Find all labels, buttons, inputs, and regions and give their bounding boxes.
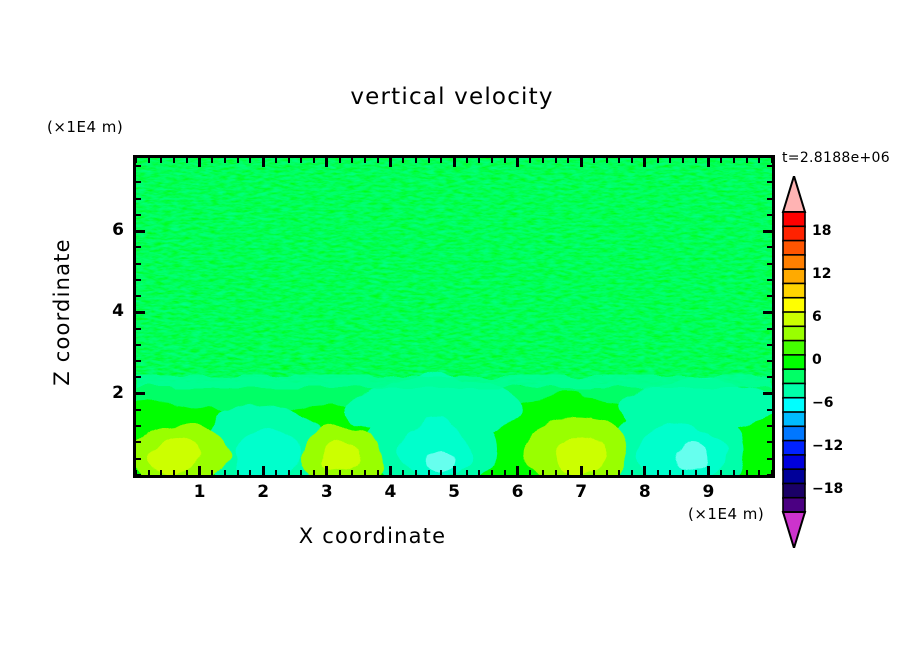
- z-minor-tick: [136, 246, 141, 248]
- x-minor-tick-top: [695, 158, 697, 163]
- x-minor-tick: [733, 470, 735, 475]
- x-minor-tick-top: [529, 158, 531, 163]
- x-minor-tick-top: [746, 158, 748, 163]
- x-major-tick: [707, 466, 710, 475]
- x-minor-tick: [402, 470, 404, 475]
- z-minor-tick: [136, 263, 141, 265]
- z-minor-tick: [136, 279, 141, 281]
- x-tick-label: 1: [180, 482, 220, 502]
- z-minor-tick-right: [767, 295, 772, 297]
- z-minor-tick-right: [767, 246, 772, 248]
- z-axis-unit-label: (×1E4 m): [47, 118, 123, 136]
- z-minor-tick: [136, 458, 141, 460]
- x-minor-tick: [669, 470, 671, 475]
- x-minor-tick: [173, 470, 175, 475]
- x-minor-tick-top: [249, 158, 251, 163]
- x-tick-label: 4: [370, 482, 410, 502]
- z-tick-label: 6: [98, 220, 124, 240]
- x-major-tick: [325, 466, 328, 475]
- colorbar-band: [783, 312, 805, 327]
- x-major-tick-top: [580, 158, 583, 167]
- colorbar-band: [783, 483, 805, 498]
- x-minor-tick-top: [771, 158, 773, 163]
- x-minor-tick-top: [300, 158, 302, 163]
- z-minor-tick-right: [767, 360, 772, 362]
- x-minor-tick-top: [606, 158, 608, 163]
- z-minor-tick: [136, 165, 141, 167]
- z-major-tick: [136, 230, 145, 233]
- z-tick-label: 2: [98, 383, 124, 403]
- x-minor-tick-top: [364, 158, 366, 163]
- chart-title: vertical velocity: [0, 84, 904, 110]
- z-minor-tick-right: [767, 376, 772, 378]
- x-minor-tick-top: [377, 158, 379, 163]
- z-minor-tick: [136, 328, 141, 330]
- x-major-tick-top: [262, 158, 265, 167]
- x-minor-tick-top: [237, 158, 239, 163]
- x-minor-tick-top: [555, 158, 557, 163]
- x-minor-tick-top: [173, 158, 175, 163]
- colorbar-tick-label: 18: [812, 223, 831, 239]
- x-minor-tick: [529, 470, 531, 475]
- contour-field: [136, 158, 772, 475]
- z-axis-title: Z coordinate: [50, 212, 74, 412]
- colorbar-band: [783, 226, 805, 241]
- x-major-tick: [262, 466, 265, 475]
- x-tick-label: 9: [688, 482, 728, 502]
- z-minor-tick: [136, 360, 141, 362]
- colorbar-tick-label: 0: [812, 352, 822, 368]
- x-minor-tick-top: [275, 158, 277, 163]
- z-minor-tick: [136, 344, 141, 346]
- x-minor-tick-top: [733, 158, 735, 163]
- colorbar-band: [783, 369, 805, 384]
- z-minor-tick-right: [767, 474, 772, 476]
- colorbar-band: [783, 326, 805, 341]
- x-minor-tick-top: [542, 158, 544, 163]
- x-major-tick: [516, 466, 519, 475]
- colorbar-band: [783, 426, 805, 441]
- colorbar-band: [783, 498, 805, 513]
- x-minor-tick: [695, 470, 697, 475]
- x-minor-tick-top: [313, 158, 315, 163]
- colorbar-over-arrow: [783, 176, 805, 212]
- x-minor-tick-top: [669, 158, 671, 163]
- z-minor-tick: [136, 181, 141, 183]
- x-minor-tick-top: [288, 158, 290, 163]
- x-minor-tick-top: [504, 158, 506, 163]
- colorbar-band: [783, 283, 805, 298]
- x-minor-tick-top: [466, 158, 468, 163]
- x-axis-unit-label: (×1E4 m): [688, 505, 764, 523]
- x-major-tick-top: [643, 158, 646, 167]
- z-minor-tick-right: [767, 181, 772, 183]
- time-annotation: t=2.8188e+06: [782, 150, 890, 166]
- x-minor-tick-top: [428, 158, 430, 163]
- x-minor-tick: [618, 470, 620, 475]
- z-minor-tick: [136, 441, 141, 443]
- contour-plot-area: [133, 155, 775, 478]
- z-major-tick-right: [763, 392, 772, 395]
- x-minor-tick-top: [402, 158, 404, 163]
- z-minor-tick-right: [767, 328, 772, 330]
- x-minor-tick-top: [339, 158, 341, 163]
- x-minor-tick: [491, 470, 493, 475]
- x-minor-tick: [657, 470, 659, 475]
- x-major-tick: [453, 466, 456, 475]
- x-tick-label: 7: [561, 482, 601, 502]
- colorbar-tick-label: −12: [812, 438, 843, 454]
- z-minor-tick-right: [767, 344, 772, 346]
- x-minor-tick: [249, 470, 251, 475]
- x-minor-tick-top: [657, 158, 659, 163]
- x-major-tick: [643, 466, 646, 475]
- x-minor-tick: [758, 470, 760, 475]
- x-major-tick-top: [389, 158, 392, 167]
- colorbar-band: [783, 383, 805, 398]
- x-minor-tick: [504, 470, 506, 475]
- x-tick-label: 3: [307, 482, 347, 502]
- x-minor-tick: [440, 470, 442, 475]
- x-minor-tick-top: [593, 158, 595, 163]
- z-minor-tick: [136, 425, 141, 427]
- z-minor-tick: [136, 409, 141, 411]
- x-minor-tick-top: [211, 158, 213, 163]
- x-minor-tick: [300, 470, 302, 475]
- x-minor-tick: [593, 470, 595, 475]
- x-minor-tick: [364, 470, 366, 475]
- x-minor-tick: [377, 470, 379, 475]
- x-major-tick-top: [453, 158, 456, 167]
- x-minor-tick-top: [135, 158, 137, 163]
- z-major-tick: [136, 311, 145, 314]
- x-minor-tick: [428, 470, 430, 475]
- colorbar-band: [783, 355, 805, 370]
- x-minor-tick-top: [478, 158, 480, 163]
- x-minor-tick: [542, 470, 544, 475]
- x-axis-title: X coordinate: [0, 524, 745, 548]
- colorbar-band: [783, 255, 805, 270]
- colorbar-band: [783, 441, 805, 456]
- x-minor-tick-top: [491, 158, 493, 163]
- z-minor-tick-right: [767, 441, 772, 443]
- x-minor-tick-top: [720, 158, 722, 163]
- colorbar-band: [783, 241, 805, 256]
- x-major-tick-top: [516, 158, 519, 167]
- x-minor-tick: [275, 470, 277, 475]
- x-minor-tick: [478, 470, 480, 475]
- x-minor-tick-top: [224, 158, 226, 163]
- x-minor-tick: [555, 470, 557, 475]
- x-minor-tick: [148, 470, 150, 475]
- colorbar-tick-label: 12: [812, 266, 831, 282]
- z-minor-tick-right: [767, 425, 772, 427]
- x-minor-tick: [631, 470, 633, 475]
- x-minor-tick: [682, 470, 684, 475]
- x-minor-tick: [186, 470, 188, 475]
- x-major-tick-top: [325, 158, 328, 167]
- x-minor-tick: [211, 470, 213, 475]
- x-minor-tick: [351, 470, 353, 475]
- x-minor-tick-top: [618, 158, 620, 163]
- z-major-tick-right: [763, 230, 772, 233]
- colorbar-band: [783, 269, 805, 284]
- z-minor-tick-right: [767, 263, 772, 265]
- x-minor-tick-top: [682, 158, 684, 163]
- x-minor-tick: [466, 470, 468, 475]
- x-tick-label: 8: [625, 482, 665, 502]
- x-minor-tick-top: [567, 158, 569, 163]
- z-minor-tick: [136, 214, 141, 216]
- z-minor-tick-right: [767, 214, 772, 216]
- x-tick-label: 6: [498, 482, 538, 502]
- x-minor-tick: [288, 470, 290, 475]
- colorbar-band: [783, 298, 805, 313]
- x-minor-tick: [237, 470, 239, 475]
- z-major-tick: [136, 392, 145, 395]
- x-minor-tick: [415, 470, 417, 475]
- z-minor-tick-right: [767, 165, 772, 167]
- colorbar-band: [783, 412, 805, 427]
- x-major-tick: [580, 466, 583, 475]
- x-minor-tick: [567, 470, 569, 475]
- x-major-tick-top: [198, 158, 201, 167]
- colorbar-band: [783, 455, 805, 470]
- z-minor-tick: [136, 295, 141, 297]
- x-minor-tick-top: [148, 158, 150, 163]
- z-minor-tick: [136, 474, 141, 476]
- z-minor-tick: [136, 376, 141, 378]
- x-minor-tick: [606, 470, 608, 475]
- z-minor-tick-right: [767, 409, 772, 411]
- z-minor-tick: [136, 198, 141, 200]
- z-major-tick-right: [763, 311, 772, 314]
- x-minor-tick: [160, 470, 162, 475]
- z-minor-tick-right: [767, 198, 772, 200]
- x-major-tick: [389, 466, 392, 475]
- x-tick-label: 2: [243, 482, 283, 502]
- x-minor-tick: [313, 470, 315, 475]
- colorbar-under-arrow: [783, 512, 805, 548]
- colorbar-tick-label: −18: [812, 481, 843, 497]
- x-minor-tick: [720, 470, 722, 475]
- x-minor-tick-top: [440, 158, 442, 163]
- z-tick-label: 4: [98, 301, 124, 321]
- colorbar-band: [783, 398, 805, 413]
- x-minor-tick-top: [758, 158, 760, 163]
- x-minor-tick-top: [415, 158, 417, 163]
- x-minor-tick-top: [186, 158, 188, 163]
- x-major-tick-top: [707, 158, 710, 167]
- colorbar-band: [783, 212, 805, 227]
- z-minor-tick-right: [767, 279, 772, 281]
- x-major-tick: [198, 466, 201, 475]
- x-minor-tick: [224, 470, 226, 475]
- colorbar-tick-label: −6: [812, 395, 833, 411]
- colorbar-tick-label: 6: [812, 309, 822, 325]
- colorbar-band: [783, 341, 805, 356]
- colorbar-band: [783, 469, 805, 484]
- x-minor-tick-top: [351, 158, 353, 163]
- x-minor-tick: [746, 470, 748, 475]
- z-minor-tick-right: [767, 458, 772, 460]
- x-minor-tick: [339, 470, 341, 475]
- x-minor-tick-top: [631, 158, 633, 163]
- x-minor-tick-top: [160, 158, 162, 163]
- x-tick-label: 5: [434, 482, 474, 502]
